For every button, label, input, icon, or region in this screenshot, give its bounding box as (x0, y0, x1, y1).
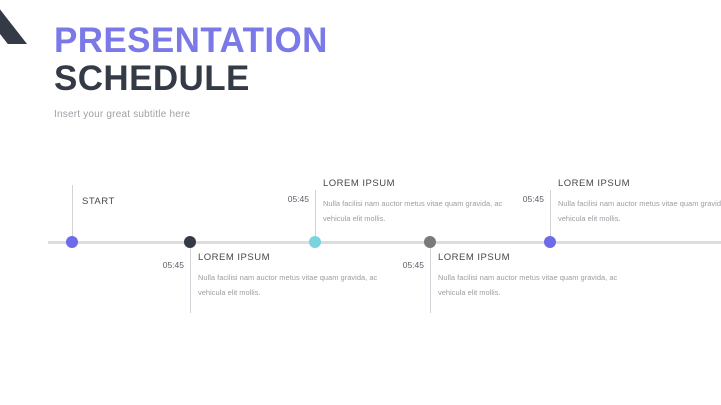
timeline-entry-body: Nulla facilisi nam auctor metus vitae qu… (323, 196, 508, 226)
timeline-axis (48, 241, 721, 244)
timeline-connector (315, 190, 316, 238)
timeline-start-label: START (82, 196, 115, 207)
timeline-connector (430, 246, 431, 313)
timeline-connector (550, 190, 551, 238)
presentation-slide: PRESENTATION SCHEDULE Insert your great … (0, 0, 721, 405)
timeline-connector (72, 185, 73, 238)
timeline-entry-body: Nulla facilisi nam auctor metus vitae qu… (198, 270, 383, 300)
timeline-entry-heading: LOREM IPSUM (323, 178, 538, 189)
timeline-entry-heading: LOREM IPSUM (558, 178, 721, 189)
timeline-time-label: 05:45 (132, 260, 184, 270)
timeline-dot-icon[interactable] (66, 236, 78, 248)
timeline-time-label: 05:45 (257, 194, 309, 204)
timeline-entry-body: Nulla facilisi nam auctor metus vitae qu… (558, 196, 721, 226)
timeline-entry-body: Nulla facilisi nam auctor metus vitae qu… (438, 270, 623, 300)
timeline-entry-heading: LOREM IPSUM (438, 252, 653, 263)
timeline-dot-icon[interactable] (424, 236, 436, 248)
timeline-entry: LOREM IPSUMNulla facilisi nam auctor met… (438, 252, 653, 300)
timeline-time-label: 05:45 (492, 194, 544, 204)
timeline-entry: LOREM IPSUMNulla facilisi nam auctor met… (558, 178, 721, 226)
timeline: START05:45LOREM IPSUMNulla facilisi nam … (0, 0, 721, 405)
timeline-dot-icon[interactable] (309, 236, 321, 248)
timeline-time-label: 05:45 (372, 260, 424, 270)
timeline-connector (190, 246, 191, 313)
timeline-dot-icon[interactable] (544, 236, 556, 248)
timeline-dot-icon[interactable] (184, 236, 196, 248)
